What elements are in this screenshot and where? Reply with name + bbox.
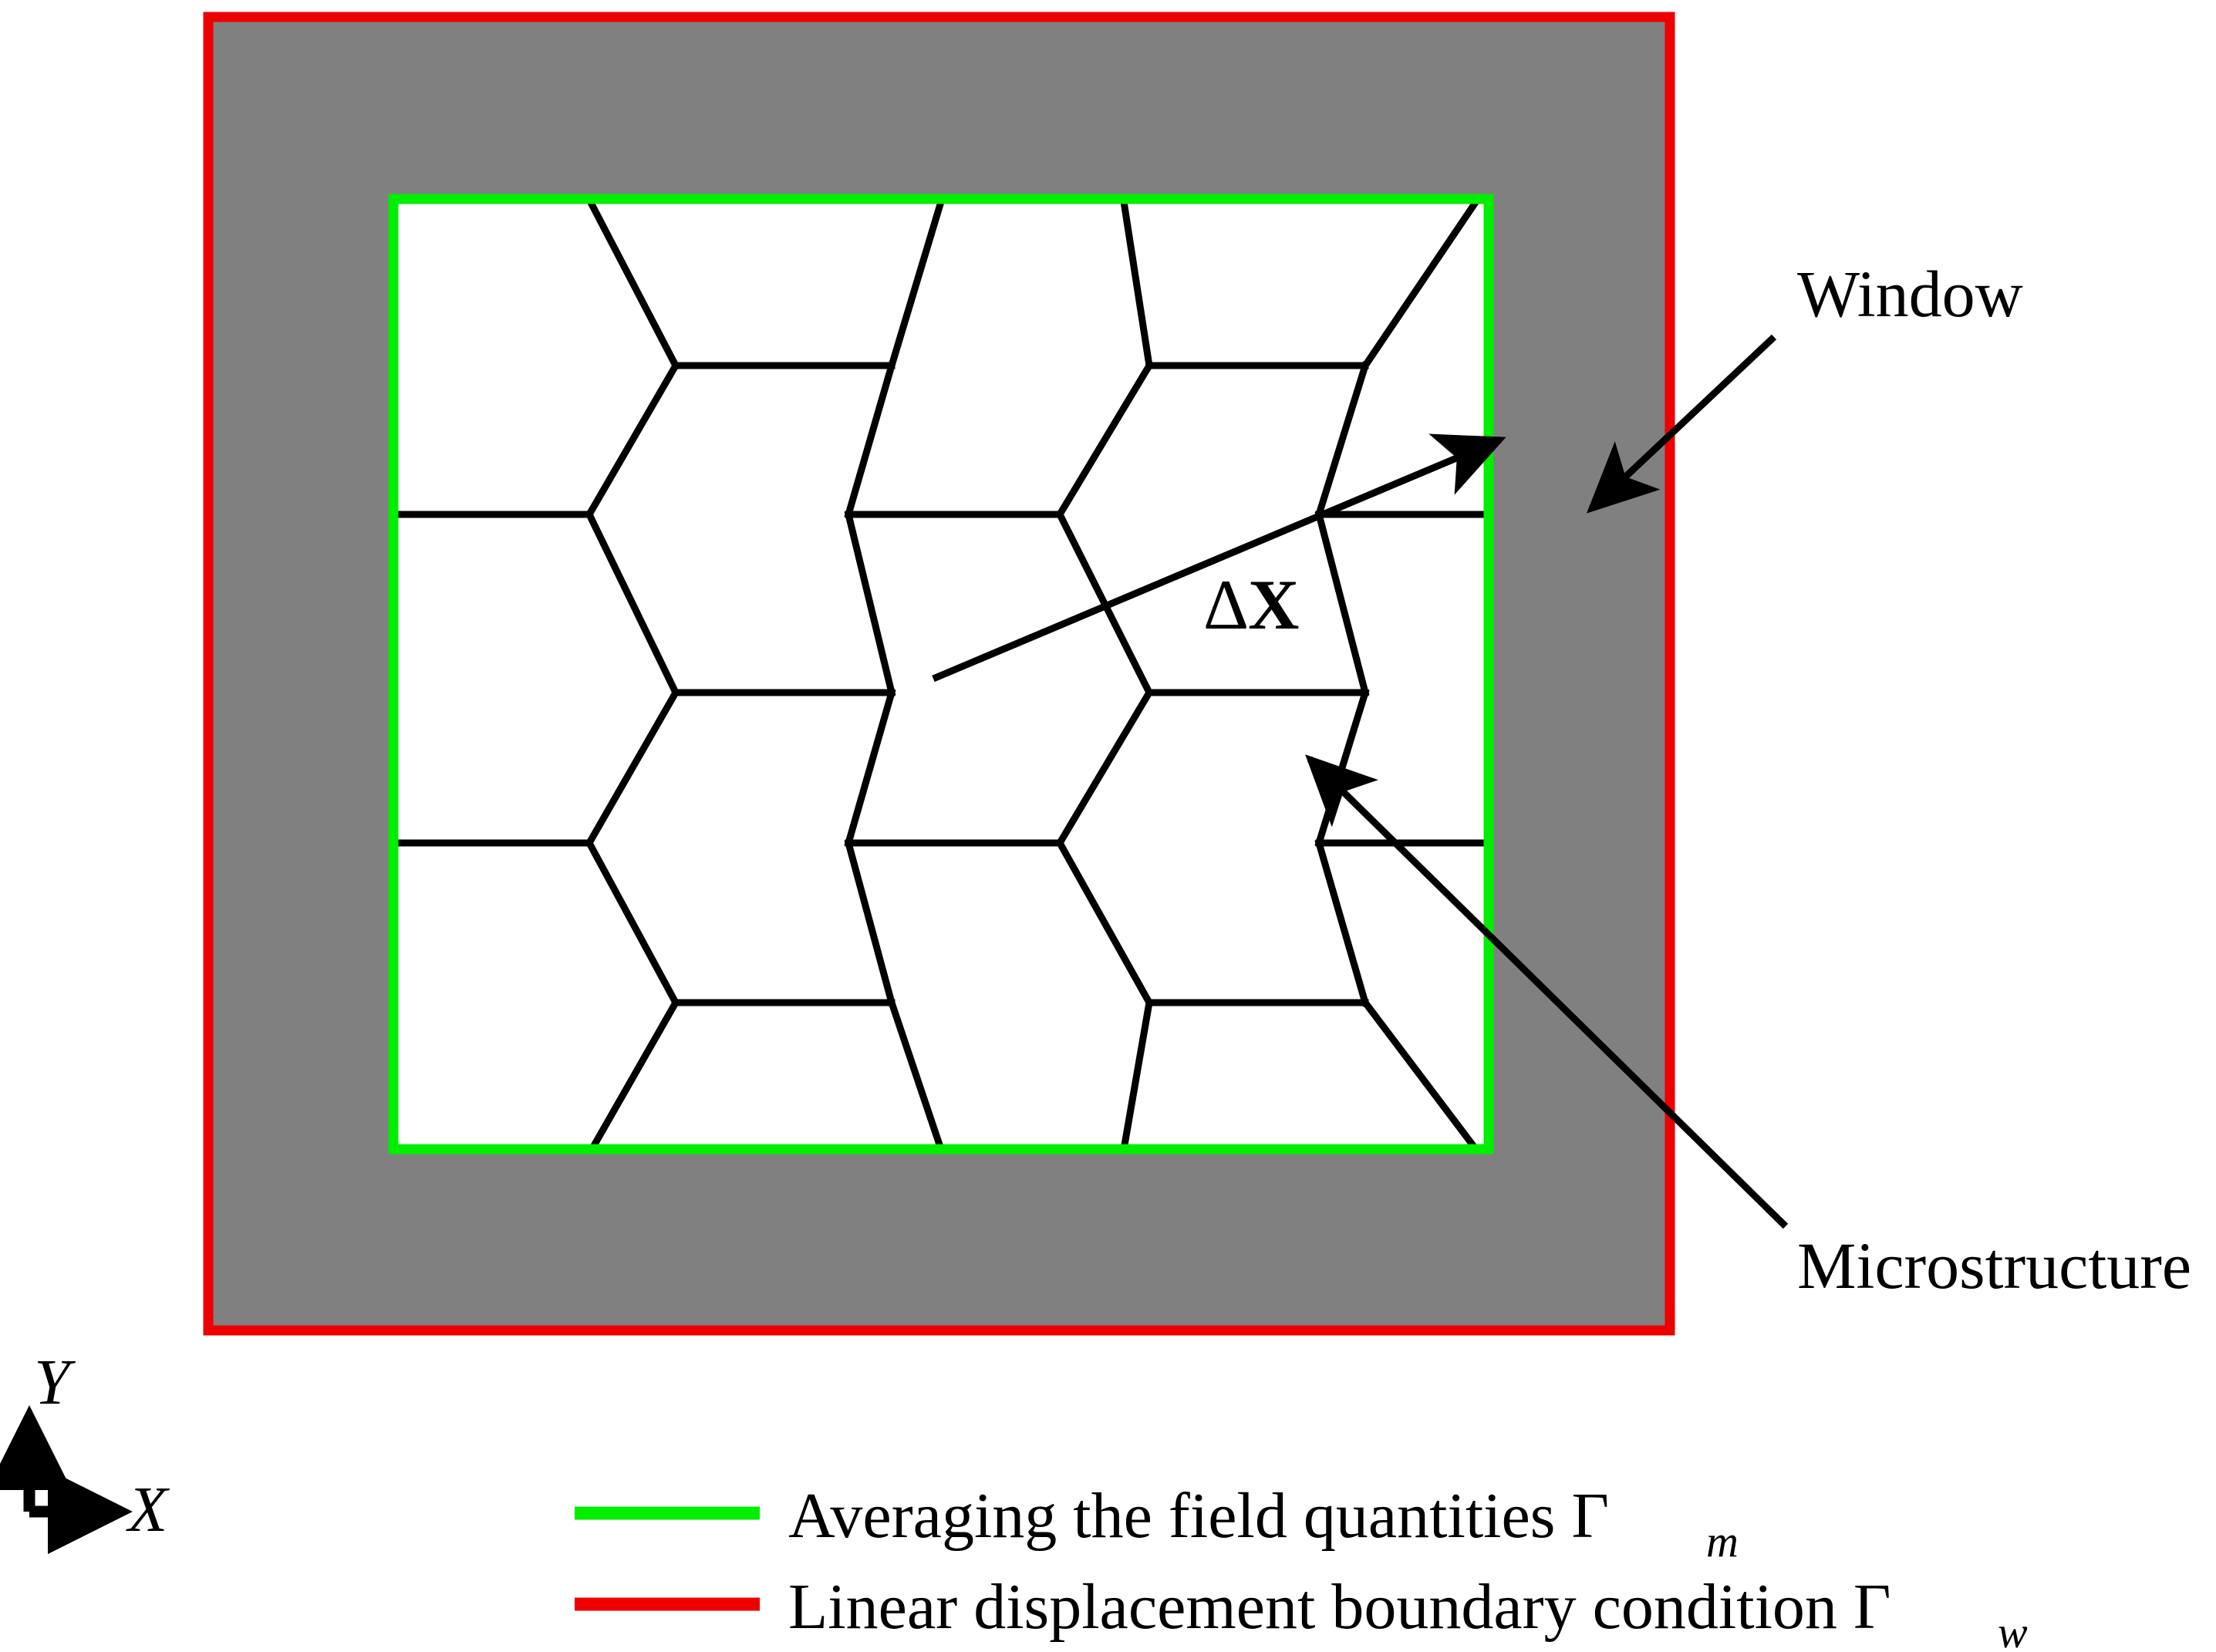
legend-item-linear-displacement[interactable]: Linear displacement boundary condition Γ… — [575, 1571, 2028, 1652]
delta-x-label-delta: Δ — [1203, 565, 1249, 644]
microstructure-label: Microstructure — [1797, 1229, 2191, 1303]
y-axis-label: Y — [34, 1347, 76, 1418]
delta-x-label-vector: X — [1248, 565, 1299, 644]
legend-subscript-m: m — [1706, 1516, 1739, 1566]
legend-label-averaging: Averaging the field quantities Γ — [788, 1480, 1609, 1552]
legend-label-linear-displacement: Linear displacement boundary condition Γ — [788, 1571, 1891, 1643]
diagram-canvas: Δ X Window Microstructure Y X Averaging … — [0, 0, 2216, 1652]
figure-root: Δ X Window Microstructure Y X Averaging … — [0, 0, 2216, 1652]
legend-subscript-w: w — [1998, 1607, 2028, 1652]
coordinate-axes: Y X — [29, 1347, 170, 1546]
window-label: Window — [1797, 257, 2023, 331]
x-axis-label: X — [126, 1474, 170, 1546]
legend-item-averaging[interactable]: Averaging the field quantities Γ m — [575, 1480, 1739, 1566]
legend: Averaging the field quantities Γ m Linea… — [575, 1480, 2028, 1652]
